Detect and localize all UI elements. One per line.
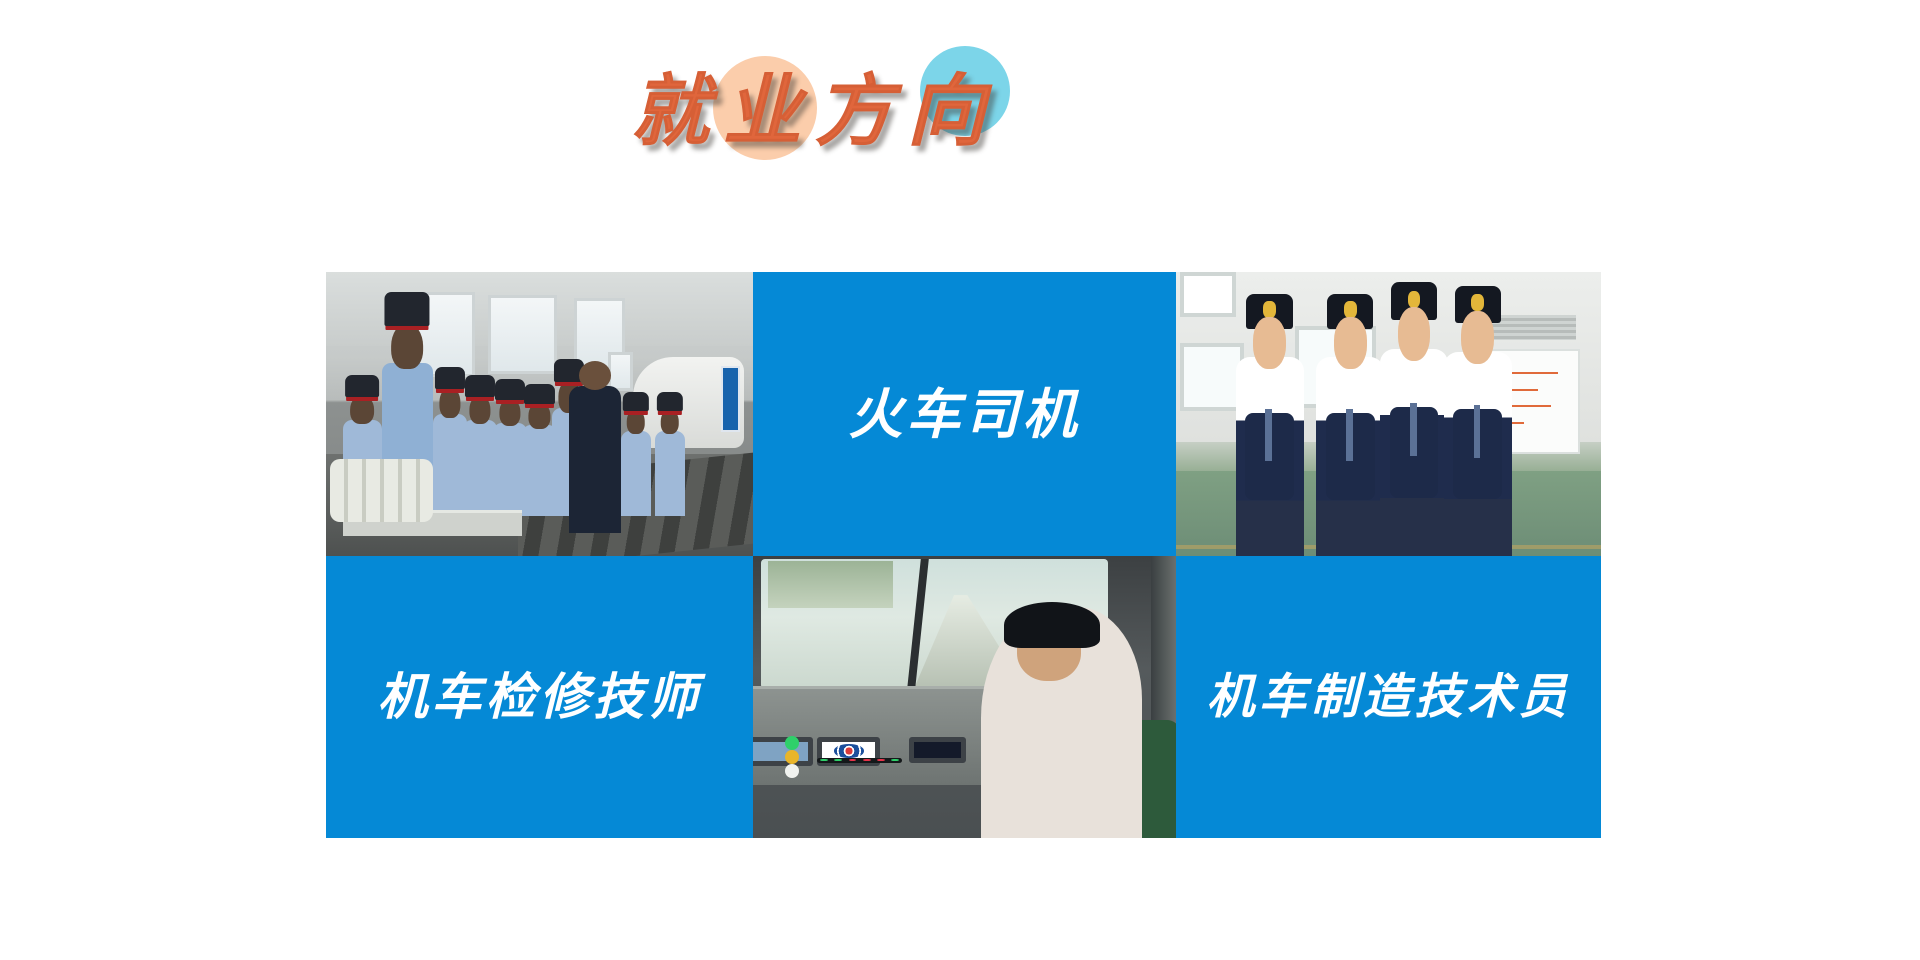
cadet-figure — [463, 420, 497, 517]
grid-cell-locomotive-manufacturing-technician[interactable]: 机车制造技术员 — [1176, 556, 1601, 838]
head — [1253, 317, 1286, 369]
grid-cell-train-driver[interactable]: 火车司机 — [753, 272, 1176, 556]
necktie — [1410, 403, 1417, 457]
page-title: 就业方向 — [575, 30, 1055, 180]
cadet-figure — [1236, 357, 1304, 556]
console-button-row — [817, 758, 902, 763]
instructor-figure — [569, 386, 620, 534]
indicator-lamps — [785, 736, 799, 757]
cadet-figure — [1380, 349, 1448, 556]
window — [1180, 272, 1235, 317]
hall-sign — [721, 366, 740, 432]
driver-figure — [981, 607, 1142, 838]
photo-railway-training-hall — [326, 272, 753, 556]
career-label-locomotive-manufacturing-technician: 机车制造技术员 — [1206, 673, 1570, 721]
window — [1180, 343, 1244, 411]
insulator-rolls — [330, 459, 432, 521]
page-header: 就业方向 — [0, 0, 1920, 200]
necktie — [1265, 409, 1272, 461]
cadet-figure — [433, 414, 467, 516]
trackside-greenery — [768, 561, 893, 608]
career-label-locomotive-maintenance-technician: 机车检修技师 — [378, 672, 702, 722]
head — [1461, 311, 1494, 364]
head — [1334, 317, 1367, 369]
cadet-figure — [621, 431, 651, 516]
cadet-figure — [655, 431, 685, 516]
grid-cell-train-cab-simulator — [753, 556, 1176, 838]
window — [488, 295, 556, 375]
grid-cell-locomotive-maintenance-technician[interactable]: 机车检修技师 — [326, 556, 753, 838]
left-monitor — [753, 737, 813, 766]
head — [1398, 307, 1431, 361]
grid-cell-four-cadets — [1176, 272, 1601, 556]
career-label-train-driver: 火车司机 — [849, 387, 1081, 441]
photo-four-cadets-in-uniform — [1176, 272, 1601, 556]
cadet-figure — [1444, 352, 1512, 556]
photo-train-cab-simulator — [753, 556, 1176, 838]
necktie — [1474, 405, 1481, 458]
cadet-figure — [1316, 357, 1384, 556]
right-monitor — [909, 737, 965, 763]
necktie — [1346, 409, 1353, 461]
title-group: 就业方向 — [575, 30, 1055, 180]
grid-cell-railway-training-hall — [326, 272, 753, 556]
career-directions-grid: 火车司机 — [326, 272, 1601, 838]
peaked-cap — [1004, 602, 1100, 648]
